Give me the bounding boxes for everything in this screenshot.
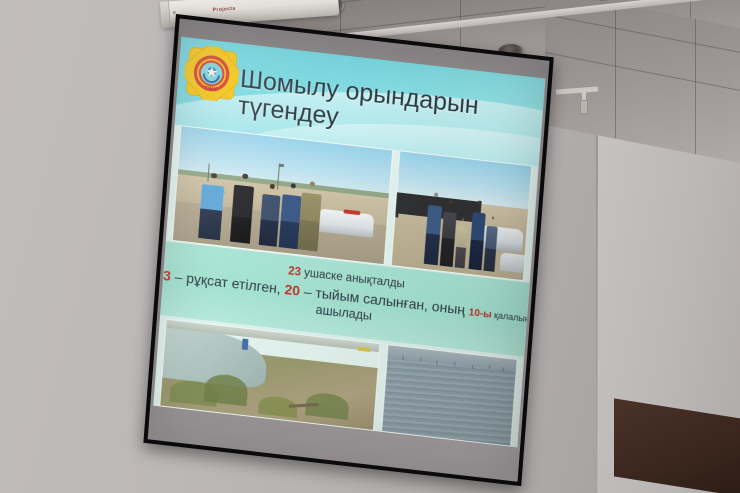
projected-slide: ТЖК Шомылу орындарын түгендеу	[153, 37, 545, 448]
housing-end-cap	[160, 1, 171, 28]
stats-count-banned: 20	[284, 281, 301, 299]
projection-screen[interactable]: ТЖК Шомылу орындарын түгендеу	[143, 14, 553, 486]
photo-open-water	[381, 344, 518, 447]
photo-officials-inspection	[172, 125, 394, 265]
conference-room-scene: Projecta	[0, 0, 740, 493]
tjk-emblem-icon: ТЖК	[183, 43, 241, 103]
stats-count-city: 10-ы	[468, 307, 492, 321]
wall-corner-edge	[596, 95, 598, 493]
housing-brand-label: Projecta	[213, 6, 236, 14]
wall-switch-box	[580, 100, 588, 114]
photo-officials-vehicles	[391, 150, 533, 281]
